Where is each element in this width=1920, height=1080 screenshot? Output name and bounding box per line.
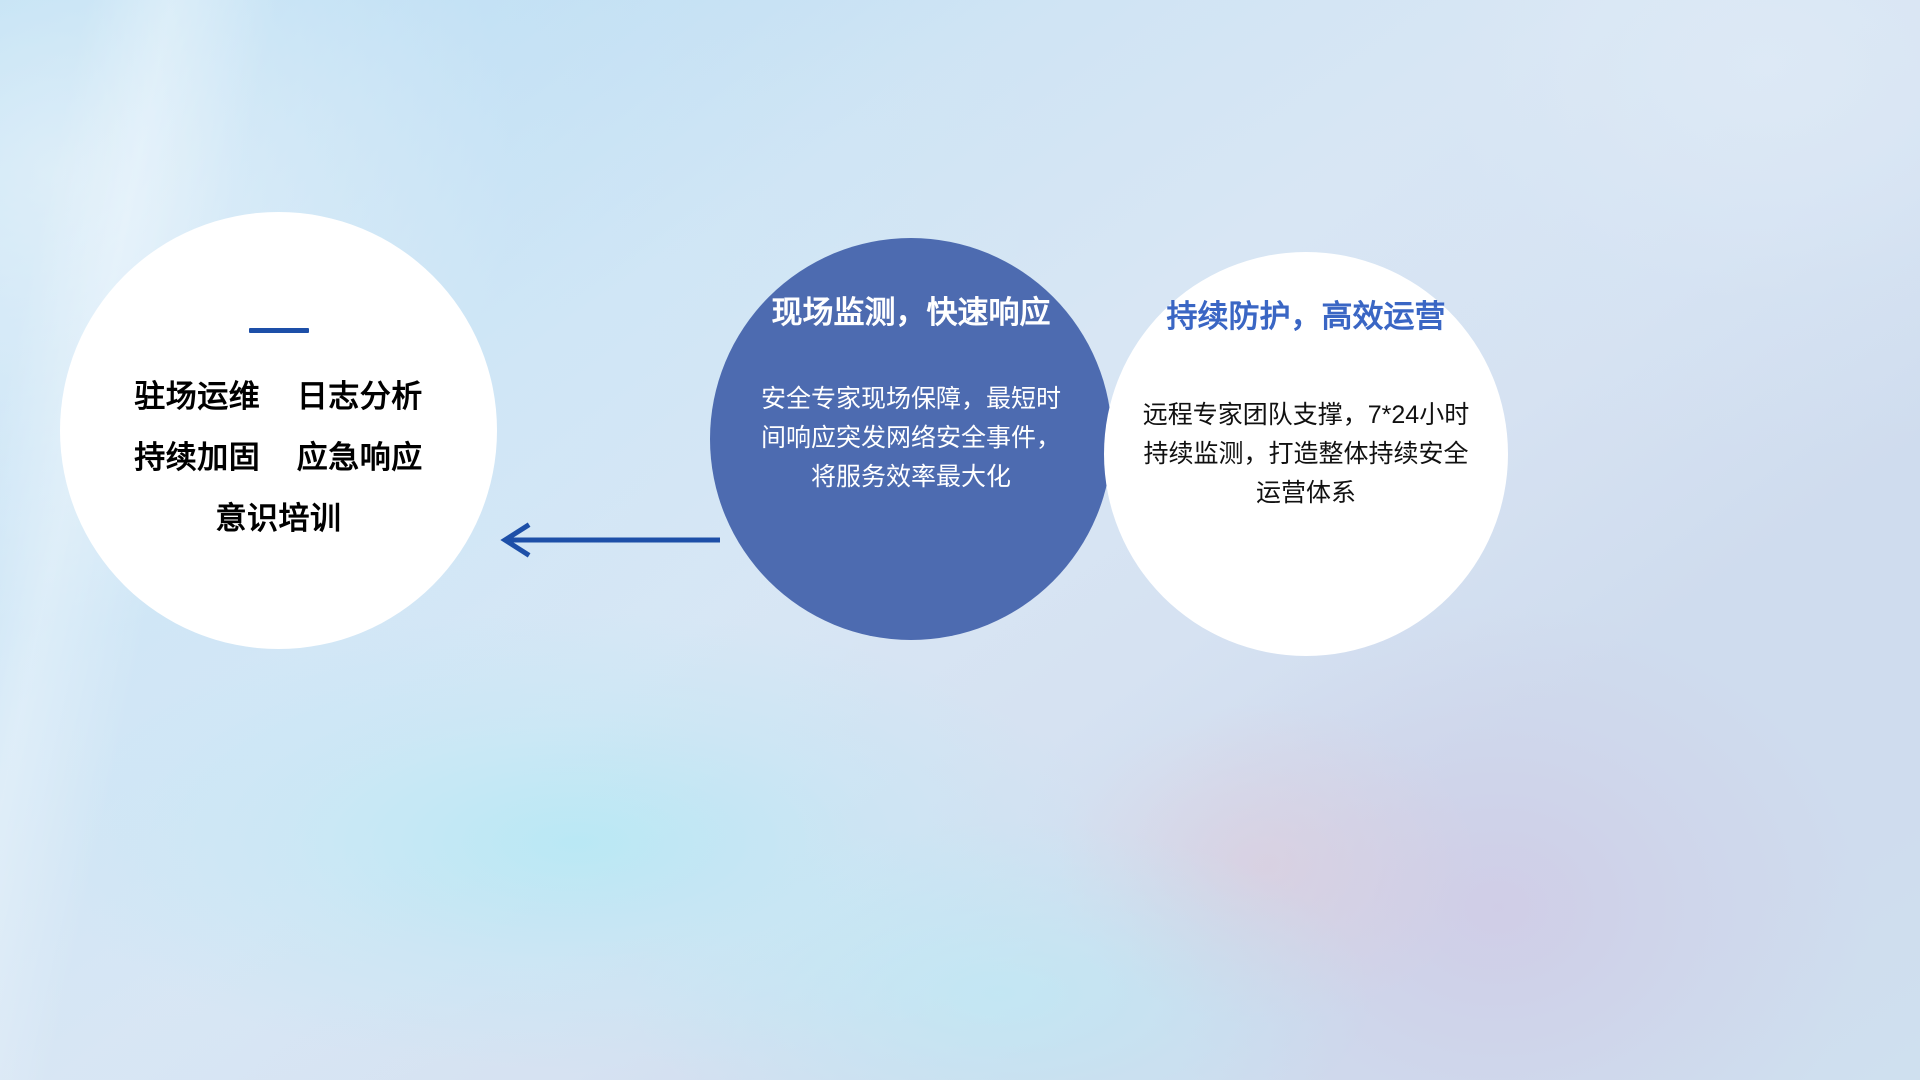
slide-canvas: 驻场运维 日志分析 持续加固 应急响应 意识培训 现场监测，快速响应 安全专家现… [0,0,1920,1080]
left-circle-divider [249,328,309,333]
right-circle-body: 远程专家团队支撑，7*24小时持续监测，打造整体持续安全运营体系 [1134,396,1478,512]
middle-circle-content: 现场监测，快速响应 安全专家现场保障，最短时间响应突发网络安全事件，将服务效率最… [710,238,1112,640]
left-circle-content: 驻场运维 日志分析 持续加固 应急响应 意识培训 [60,212,497,649]
middle-circle-body: 安全专家现场保障，最短时间响应突发网络安全事件，将服务效率最大化 [761,380,1061,496]
right-circle-content: 持续防护，高效运营 远程专家团队支撑，7*24小时持续监测，打造整体持续安全运营… [1104,252,1508,656]
left-circle-line-3: 意识培训 [216,503,342,534]
right-circle-title: 持续防护，高效运营 [1167,300,1446,334]
left-pointing-arrow [495,520,720,560]
middle-circle-title: 现场监测，快速响应 [772,296,1051,330]
left-circle-line-1: 驻场运维 日志分析 [134,381,422,412]
arrow-icon [495,520,720,560]
left-circle-line-2: 持续加固 应急响应 [134,442,422,473]
